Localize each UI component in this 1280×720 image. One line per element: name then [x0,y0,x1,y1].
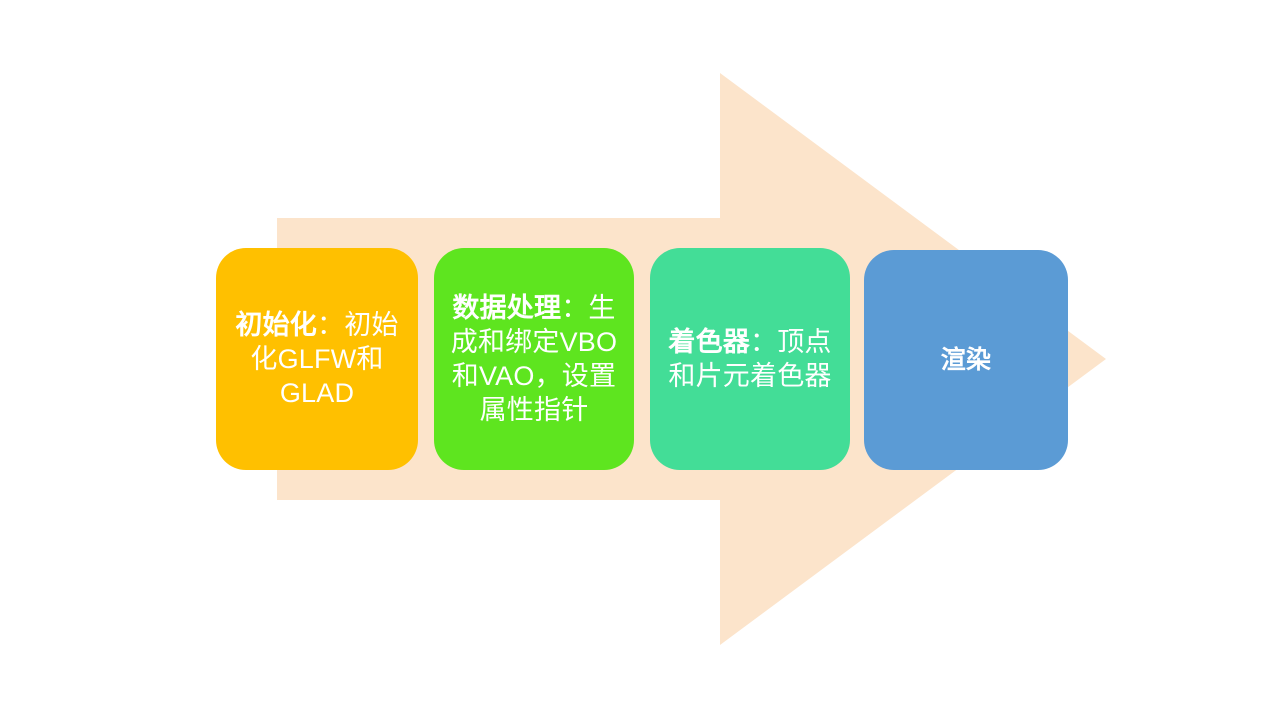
stage-label: 着色器：顶点和片元着色器 [650,325,850,393]
stage-box-shader[interactable]: 着色器：顶点和片元着色器 [650,248,850,470]
stage-label: 渲染 [864,344,1068,376]
stage-separator: ： [750,327,777,357]
stage-label: 数据处理：生成和绑定VBO和VAO，设置属性指针 [434,291,634,427]
stage-lead: 着色器 [668,327,750,357]
stage-lead: 数据处理 [452,293,561,323]
process-arrow [0,0,1280,720]
stage-lead: 渲染 [941,346,991,374]
stage-separator: ： [317,310,344,340]
stage-lead: 初始化 [235,310,317,340]
stage-box-render[interactable]: 渲染 [864,250,1068,470]
stage-label: 初始化：初始化GLFW和GLAD [216,308,418,410]
stage-box-initialization[interactable]: 初始化：初始化GLFW和GLAD [216,248,418,470]
slide-canvas: 初始化：初始化GLFW和GLAD 数据处理：生成和绑定VBO和VAO，设置属性指… [0,0,1280,720]
stage-box-data-processing[interactable]: 数据处理：生成和绑定VBO和VAO，设置属性指针 [434,248,634,470]
stage-separator: ： [561,293,588,323]
